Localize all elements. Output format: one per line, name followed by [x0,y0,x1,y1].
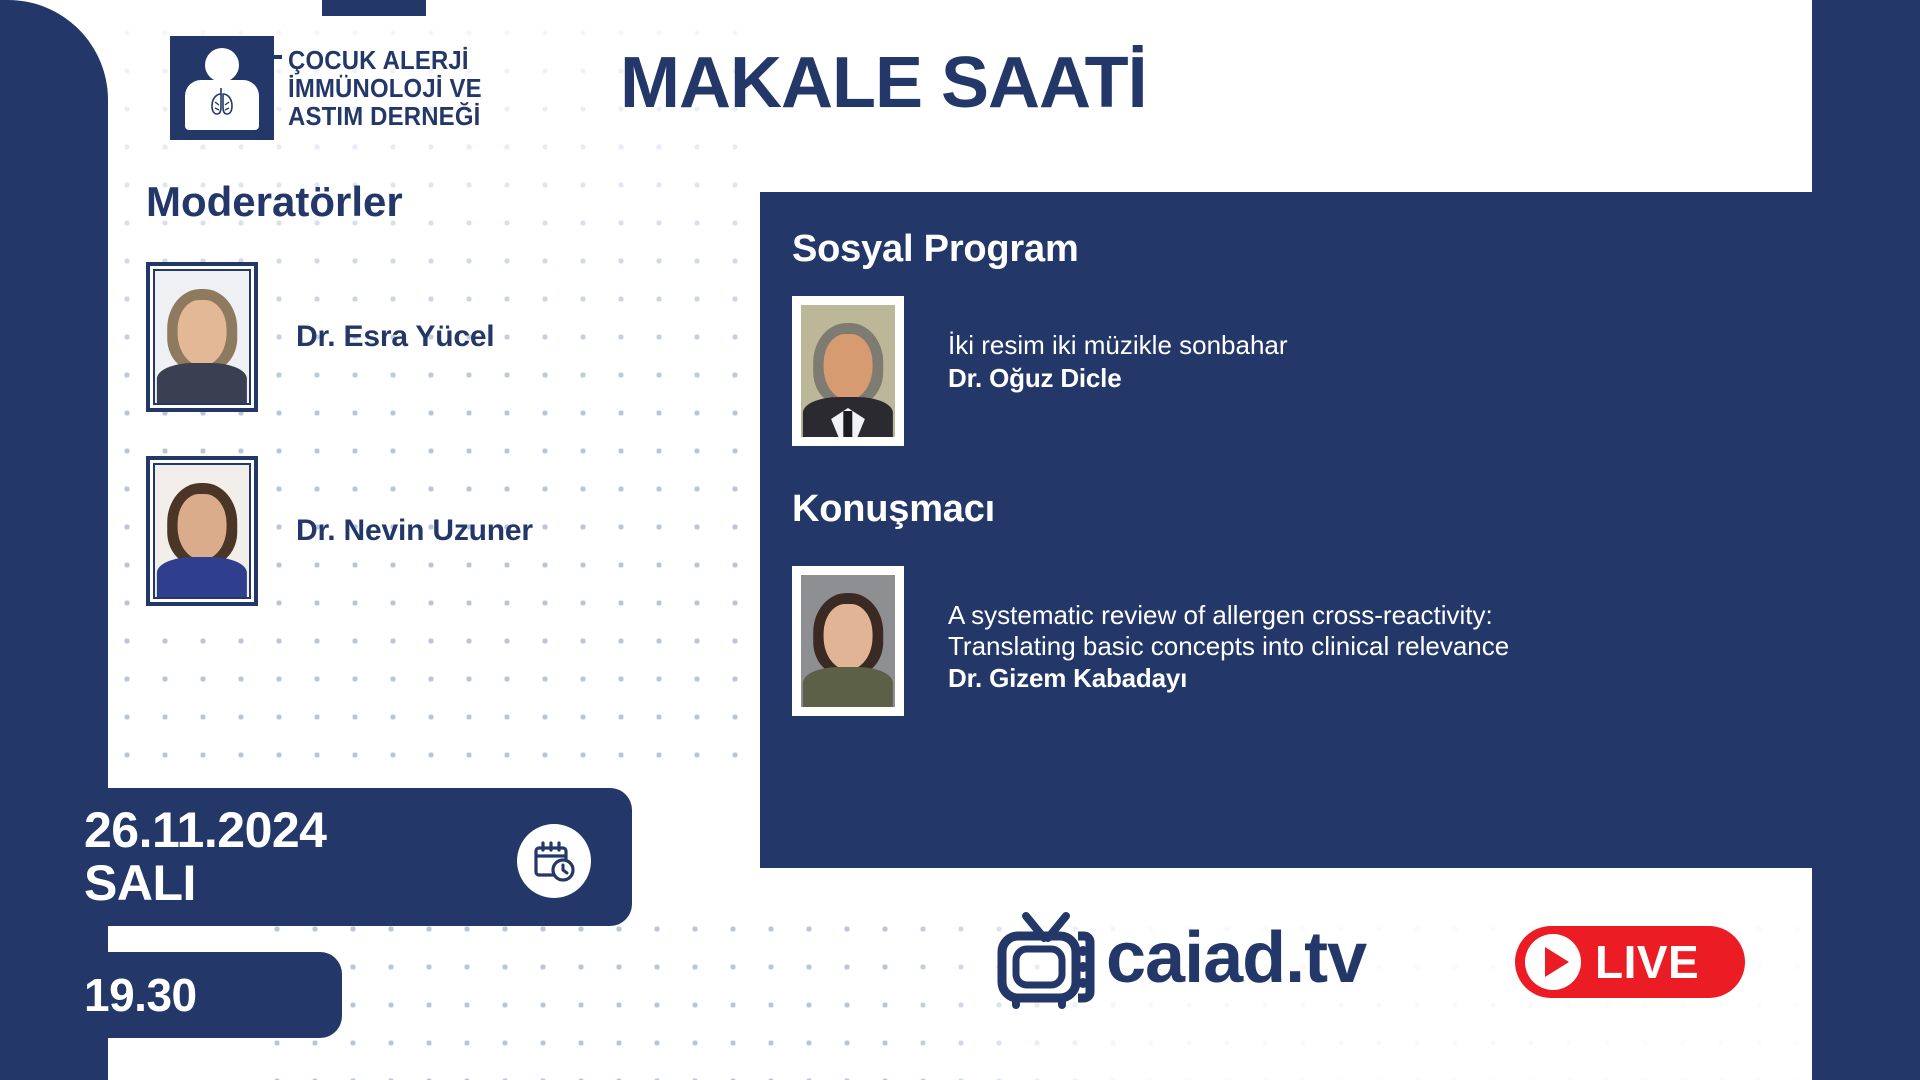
section-heading: Konuşmacı [792,488,995,531]
avatar [146,262,258,412]
portrait-oguz-dicle [801,305,895,437]
moderators-heading: Moderatörler [146,178,403,226]
entry-speaker: Dr. Gizem Kabadayı [948,663,1509,694]
avatar [792,566,904,716]
program-panel: Sosyal Program İki resim iki müzikle son… [760,192,1912,868]
portrait-nevin-uzuner [155,465,249,597]
footer-bar: caiad.tv LIVE [250,868,1812,1080]
entry-speaker: Dr. Oğuz Dicle [948,363,1288,394]
portrait-gizem-kabadayi [801,575,895,707]
moderator-name: Dr. Nevin Uzuner [296,514,533,548]
site-name: caiad.tv [1106,917,1366,999]
association-logo-text: ÇOCUK ALERJİ İMMÜNOLOJİ VE ASTIM DERNEĞİ [288,46,482,130]
moderator-name: Dr. Esra Yücel [296,320,494,354]
moderators-list: Dr. Esra Yücel Dr. Nevin Uzuner [146,262,666,650]
poster-root: ÇOCUK ALERJİ İMMÜNOLOJİ VE ASTIM DERNEĞİ… [0,0,1920,1080]
section-social-program: Sosyal Program [792,228,1079,271]
live-label: LIVE [1595,935,1699,989]
list-item: Dr. Esra Yücel [146,262,666,412]
section-speaker: Konuşmacı [792,488,995,531]
avatar [146,456,258,606]
association-logo: ÇOCUK ALERJİ İMMÜNOLOJİ VE ASTIM DERNEĞİ [170,36,499,140]
list-item: Dr. Nevin Uzuner [146,456,666,606]
list-item: A systematic review of allergen cross-re… [792,566,1509,716]
live-badge[interactable]: LIVE [1515,926,1745,998]
play-triangle-icon [1525,934,1581,990]
event-time: 19.30 [84,968,197,1022]
portrait-esra-yucel [155,271,249,403]
caiad-tv-logo[interactable]: caiad.tv [992,906,1366,1010]
section-heading: Sosyal Program [792,228,1079,271]
page-title: MAKALE SAATİ [620,42,1147,124]
entry-description: A systematic review of allergen cross-re… [948,600,1509,661]
entry-description: İki resim iki müzikle sonbahar [948,330,1288,361]
retro-tv-icon [992,906,1100,1010]
list-item: İki resim iki müzikle sonbahar Dr. Oğuz … [792,296,1288,446]
avatar [792,296,904,446]
lungs-glyph-icon [202,86,242,124]
child-lungs-logo-icon [170,36,274,140]
navy-top-tab [322,0,426,16]
